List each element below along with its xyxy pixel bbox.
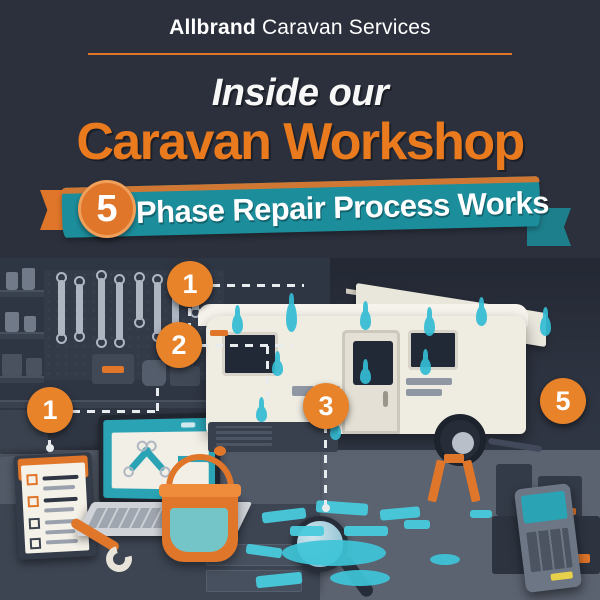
page-title: Caravan Workshop — [0, 112, 600, 172]
wall-shelf — [0, 332, 44, 339]
clipboard — [13, 452, 96, 560]
caravan-door-window — [353, 341, 393, 385]
caravan — [196, 274, 556, 484]
storage-jar — [5, 312, 19, 332]
water-drip — [232, 314, 243, 334]
step-marker-label: 1 — [27, 387, 73, 433]
connector-line — [200, 344, 292, 347]
wrench-icon — [116, 282, 123, 340]
water-splash — [344, 526, 388, 536]
step-marker-label: 3 — [303, 383, 349, 429]
storage-jar — [22, 268, 35, 290]
header-divider — [88, 53, 512, 55]
water-drip — [256, 406, 267, 422]
storage-jar — [24, 316, 36, 332]
jack-stand — [430, 458, 478, 502]
connector-endpoint — [322, 504, 330, 512]
brand-name-regular: Caravan Services — [256, 16, 431, 39]
water-drip — [286, 302, 297, 332]
checklist-line — [43, 485, 75, 491]
terminal-card-slot — [550, 571, 573, 581]
caravan-vent — [406, 378, 452, 385]
caravan-vent — [406, 389, 442, 396]
water-drip — [424, 316, 435, 336]
caravan-window — [222, 332, 278, 376]
step-marker-label: 2 — [156, 322, 202, 368]
connector-endpoint — [46, 444, 54, 452]
step-marker-3[interactable]: 3 — [303, 383, 349, 429]
step-marker-5[interactable]: 5 — [540, 378, 586, 424]
water-drip — [476, 306, 487, 326]
connector-line — [266, 346, 269, 402]
terminal-screen — [521, 491, 568, 524]
wall-shelf — [0, 290, 44, 297]
checklist-line — [45, 529, 75, 535]
caravan-decal — [210, 330, 228, 336]
phase-count-number: 5 — [81, 183, 133, 235]
step-marker-2[interactable]: 2 — [156, 322, 202, 368]
checklist-line — [44, 507, 74, 513]
connector-line — [212, 284, 304, 287]
wrench-icon — [136, 280, 143, 320]
wrench-icon — [76, 284, 83, 334]
step-marker-label: 5 — [540, 378, 586, 424]
water-puddle — [282, 540, 386, 566]
infographic-poster: Allbrand Caravan Services Inside our Car… — [0, 0, 600, 600]
checklist-line — [42, 475, 78, 481]
checkbox-checked — [29, 518, 41, 530]
water-splash — [470, 510, 492, 518]
checkbox-checked — [26, 474, 38, 486]
wrench-icon — [58, 280, 65, 336]
caravan-marker-light — [214, 446, 226, 456]
wall-shelf — [0, 376, 44, 383]
clipboard-page — [21, 462, 90, 553]
connector-line — [156, 388, 159, 414]
water-drip — [420, 358, 431, 375]
jack-top — [444, 454, 464, 463]
wheel-hub — [452, 432, 474, 454]
brand-bar: Allbrand Caravan Services — [0, 16, 600, 40]
caravan-grille — [216, 426, 272, 446]
water-puddle — [430, 554, 460, 565]
water-drip — [360, 310, 371, 330]
step-marker-label: 1 — [167, 261, 213, 307]
brand-name: Allbrand Caravan Services — [0, 16, 600, 40]
water-bucket — [162, 490, 238, 562]
water-puddle — [330, 570, 390, 586]
caravan-tow-bar — [488, 438, 542, 452]
caravan-window — [408, 330, 458, 370]
toolbox-label — [102, 366, 124, 373]
water-splash — [290, 526, 324, 536]
checklist-line — [44, 497, 78, 503]
ribbon-banner: Phase Repair Process Works 5 — [40, 178, 565, 240]
jack-leg — [462, 460, 480, 503]
bucket-water — [170, 508, 228, 552]
step-marker-1-lower[interactable]: 1 — [27, 387, 73, 433]
door-handle — [383, 391, 388, 407]
step-marker-1[interactable]: 1 — [167, 261, 213, 307]
storage-jar — [6, 272, 18, 290]
title-kicker: Inside our — [0, 72, 600, 115]
workshop-illustration: 1 2 1 3 5 — [0, 258, 600, 600]
checkbox-checked — [30, 538, 42, 550]
check-mark-icon — [181, 422, 195, 427]
wrench-icon — [98, 278, 105, 340]
brand-name-bold: Allbrand — [169, 16, 256, 39]
checklist-line — [46, 539, 78, 545]
caravan-door — [342, 330, 400, 434]
phase-count-badge: 5 — [78, 180, 136, 238]
water-drip — [272, 360, 283, 376]
water-drip — [360, 368, 371, 384]
storage-box — [26, 358, 42, 376]
water-splash — [404, 520, 430, 529]
terminal-keypad — [526, 528, 573, 573]
jack-leg — [427, 460, 445, 503]
checkbox-checked — [27, 496, 39, 508]
water-drip — [540, 316, 551, 336]
connector-line — [72, 410, 158, 413]
storage-box — [2, 354, 22, 376]
